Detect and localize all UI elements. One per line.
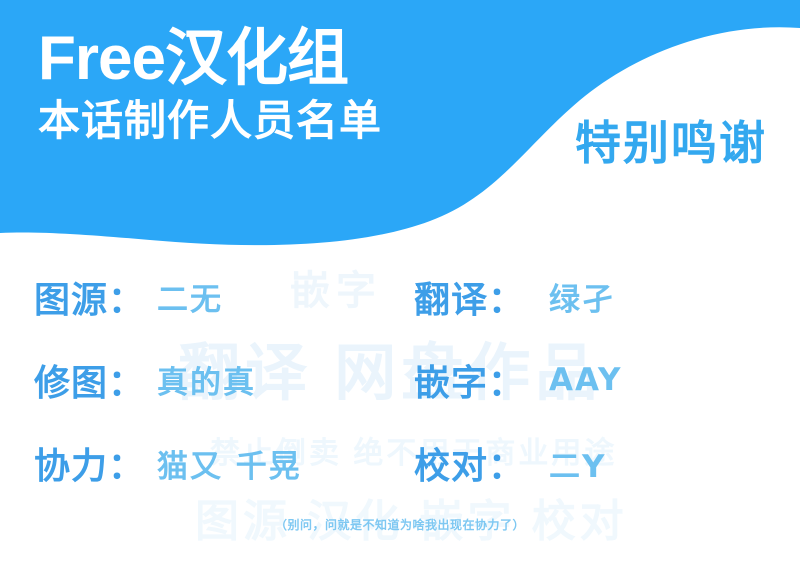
page-subtitle: 本话制作人员名单 [38, 97, 382, 145]
credits-page: Free汉化组 本话制作人员名单 特别鸣谢 嵌字 翻译 网盘作品 禁止倒卖 绝不… [0, 0, 800, 566]
page-title: Free汉化组 [38, 26, 382, 91]
credit-label: 嵌字： [414, 354, 525, 406]
credit-row: 修图： 真的真 [0, 338, 400, 421]
credit-row: 嵌字： AAY [400, 338, 800, 421]
banner-text-block: Free汉化组 本话制作人员名单 [38, 26, 382, 145]
credit-label: 校对： [414, 437, 525, 489]
credit-row: 翻译： 绿孑 [400, 255, 800, 338]
credit-value: 二Y [549, 441, 606, 486]
credit-value: 二无 [157, 274, 223, 319]
credit-row: 校对： 二Y [400, 422, 800, 505]
credit-row: 协力： 猫又 千晃 [0, 422, 400, 505]
credit-row: 图源： 二无 [0, 255, 400, 338]
credit-value: 真的真 [157, 357, 256, 402]
special-thanks-heading: 特别鸣谢 [575, 107, 767, 173]
footer-note: （别问，问就是不知道为啥我出现在协力了） [0, 516, 800, 533]
credit-value: AAY [549, 362, 622, 398]
credit-label: 翻译： [414, 271, 525, 323]
credit-value: 绿孑 [549, 274, 615, 319]
credit-label: 图源： [34, 271, 145, 323]
credit-label: 修图： [34, 354, 145, 406]
credit-label: 协力： [34, 437, 145, 489]
credits-grid: 图源： 二无 翻译： 绿孑 修图： 真的真 嵌字： AAY 协力： 猫又 千晃 … [0, 255, 800, 505]
credit-value: 猫又 千晃 [157, 441, 302, 486]
